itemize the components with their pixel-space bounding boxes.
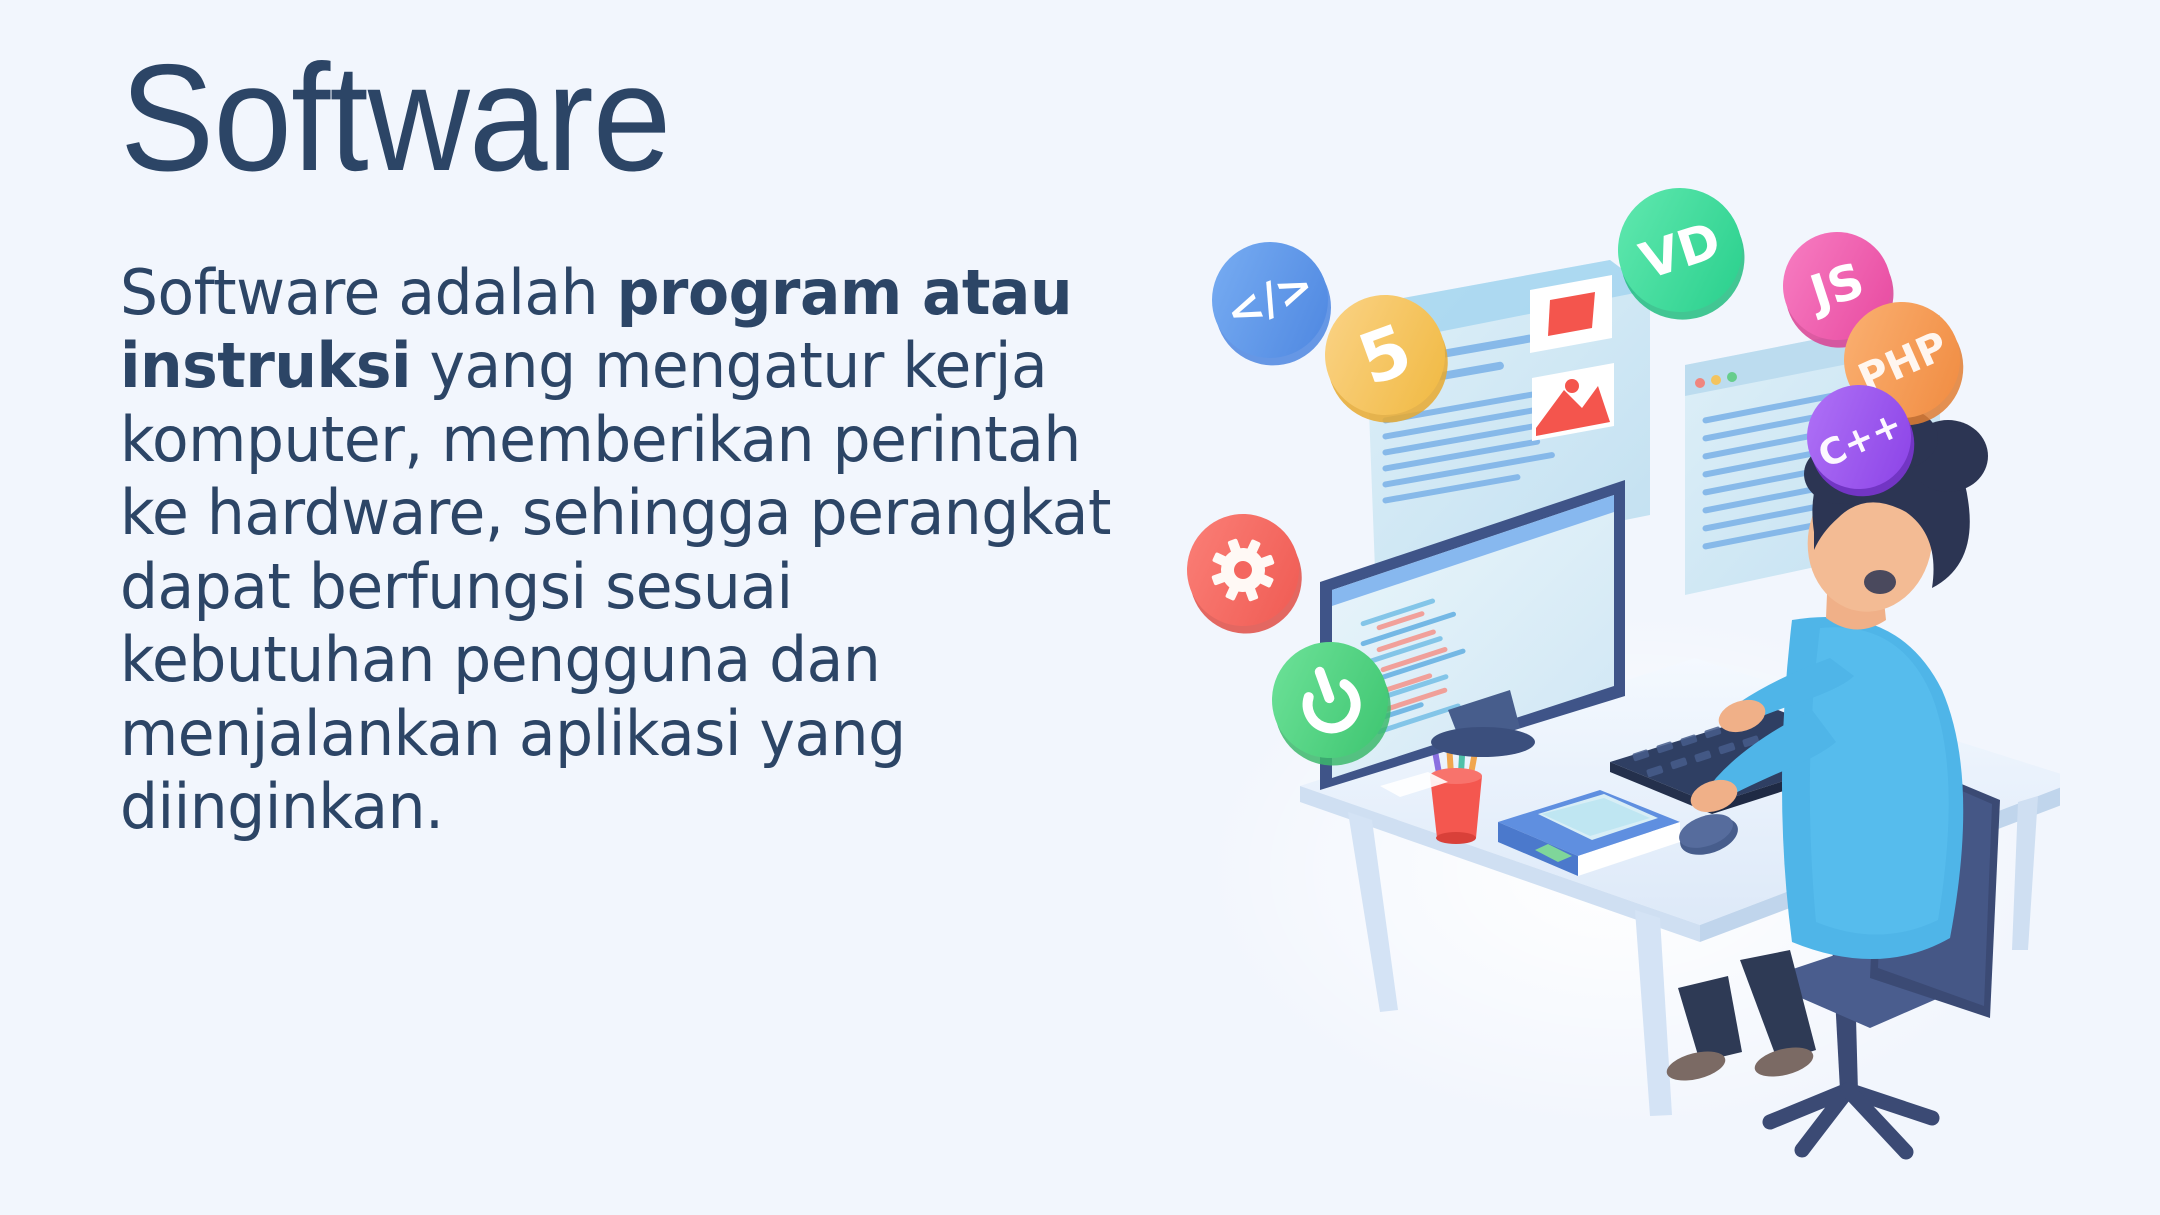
body-paragraph: Software adalah program atau instruksi y…: [120, 256, 1114, 844]
illustration-developer-at-desk: </> 5: [1180, 150, 2060, 1160]
page-title: Software: [120, 42, 1050, 194]
slide-root: Software Software adalah program atau in…: [0, 0, 2160, 1215]
body-tail-text: yang mengatur kerja komputer, memberikan…: [120, 329, 1111, 843]
gear-badge[interactable]: [1180, 498, 1318, 649]
body-lead-text: Software adalah: [120, 256, 617, 329]
window-dot-red: [1695, 378, 1705, 388]
window-dot-amber: [1711, 375, 1721, 385]
text-column: Software Software adalah program atau in…: [120, 42, 1120, 844]
window-dot-green: [1727, 372, 1737, 382]
